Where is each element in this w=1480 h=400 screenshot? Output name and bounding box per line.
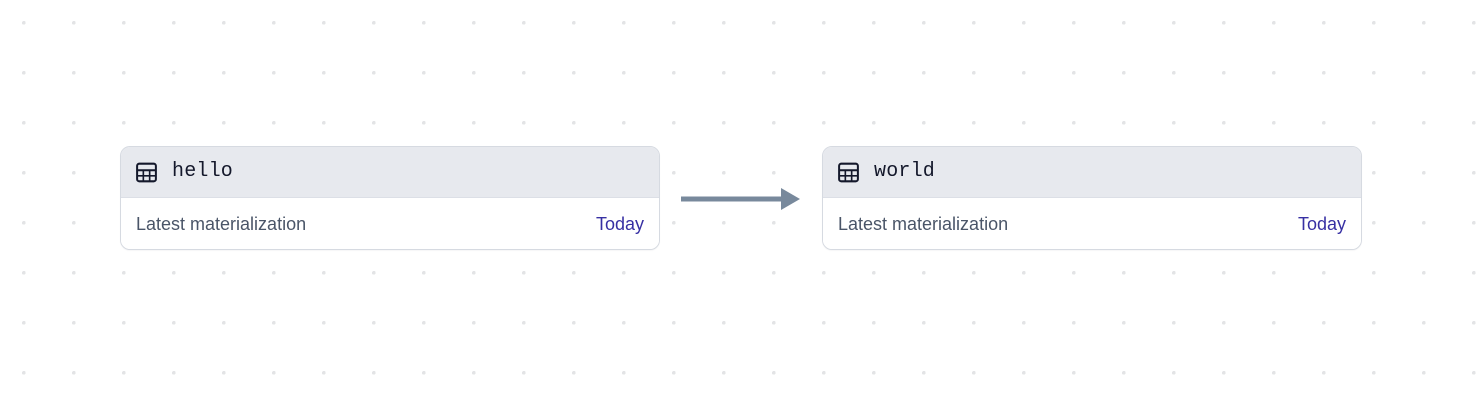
table-icon (135, 161, 158, 184)
asset-node-body: Latest materialization Today (823, 198, 1361, 249)
table-icon (837, 161, 860, 184)
asset-node-hello[interactable]: hello Latest materialization Today (120, 146, 660, 250)
asset-node-header[interactable]: world (823, 147, 1361, 198)
latest-materialization-value[interactable]: Today (1298, 215, 1346, 233)
asset-node-title: hello (172, 162, 233, 182)
asset-node-world[interactable]: world Latest materialization Today (822, 146, 1362, 250)
lineage-graph-canvas[interactable]: hello Latest materialization Today world… (0, 0, 1480, 400)
edge-arrowhead-icon (781, 188, 800, 210)
latest-materialization-value[interactable]: Today (596, 215, 644, 233)
edge-hello-to-world (681, 188, 800, 210)
latest-materialization-label: Latest materialization (838, 215, 1008, 233)
asset-node-header[interactable]: hello (121, 147, 659, 198)
asset-node-body: Latest materialization Today (121, 198, 659, 249)
latest-materialization-label: Latest materialization (136, 215, 306, 233)
asset-node-title: world (874, 162, 935, 182)
